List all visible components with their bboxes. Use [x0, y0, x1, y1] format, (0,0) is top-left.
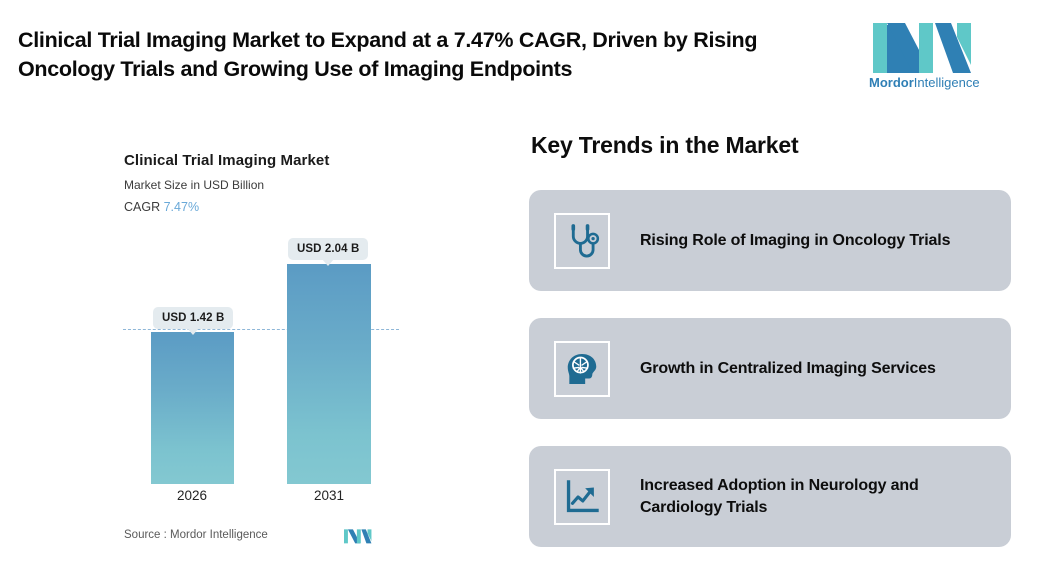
mordor-logo-mark	[873, 17, 973, 73]
chart-panel: Clinical Trial Imaging Market Market Siz…	[0, 118, 500, 576]
x-axis-label-2026: 2026	[137, 488, 247, 503]
chart-source: Source : Mordor Intelligence	[124, 527, 384, 549]
trend-card-3[interactable]: Increased Adoption in Neurology and Card…	[529, 446, 1011, 547]
trend-icon-box-3	[554, 469, 610, 525]
cagr-value: 7.47%	[164, 200, 199, 214]
brain-head-icon	[563, 350, 601, 388]
key-trends-panel: Key Trends in the Market Rising Role of …	[500, 118, 1039, 576]
page-header: Clinical Trial Imaging Market to Expand …	[0, 0, 1039, 118]
page-title: Clinical Trial Imaging Market to Expand …	[18, 26, 838, 83]
cagr-label: CAGR	[124, 200, 160, 214]
source-text: Source : Mordor Intelligence	[124, 529, 268, 541]
stethoscope-icon	[563, 222, 601, 260]
logo-word-mordor: Mordor	[869, 75, 914, 90]
value-callout-2026: USD 1.42 B	[153, 307, 233, 329]
trend-label-3: Increased Adoption in Neurology and Card…	[640, 475, 993, 518]
x-axis-label-2031: 2031	[274, 488, 384, 503]
growth-chart-icon	[563, 478, 601, 516]
key-trends-title: Key Trends in the Market	[531, 132, 798, 159]
chart-cagr: CAGR 7.47%	[124, 200, 199, 214]
trend-label-1: Rising Role of Imaging in Oncology Trial…	[640, 230, 950, 251]
trend-icon-box-2	[554, 341, 610, 397]
logo-word-intelligence: Intelligence	[914, 75, 980, 90]
value-callout-2031: USD 2.04 B	[288, 238, 368, 260]
trend-label-2: Growth in Centralized Imaging Services	[640, 358, 936, 379]
mordor-intelligence-logo: MordorIntelligence	[869, 17, 977, 97]
bar-2031	[287, 264, 371, 484]
chart-subtitle: Market Size in USD Billion	[124, 178, 264, 192]
trend-card-1[interactable]: Rising Role of Imaging in Oncology Trial…	[529, 190, 1011, 291]
bar-2026	[151, 332, 234, 484]
trend-card-2[interactable]: Growth in Centralized Imaging Services	[529, 318, 1011, 419]
mordor-logo-mark-small	[344, 527, 372, 544]
logo-wordmark: MordorIntelligence	[869, 75, 977, 90]
trend-icon-box-1	[554, 213, 610, 269]
chart-title: Clinical Trial Imaging Market	[124, 152, 329, 169]
